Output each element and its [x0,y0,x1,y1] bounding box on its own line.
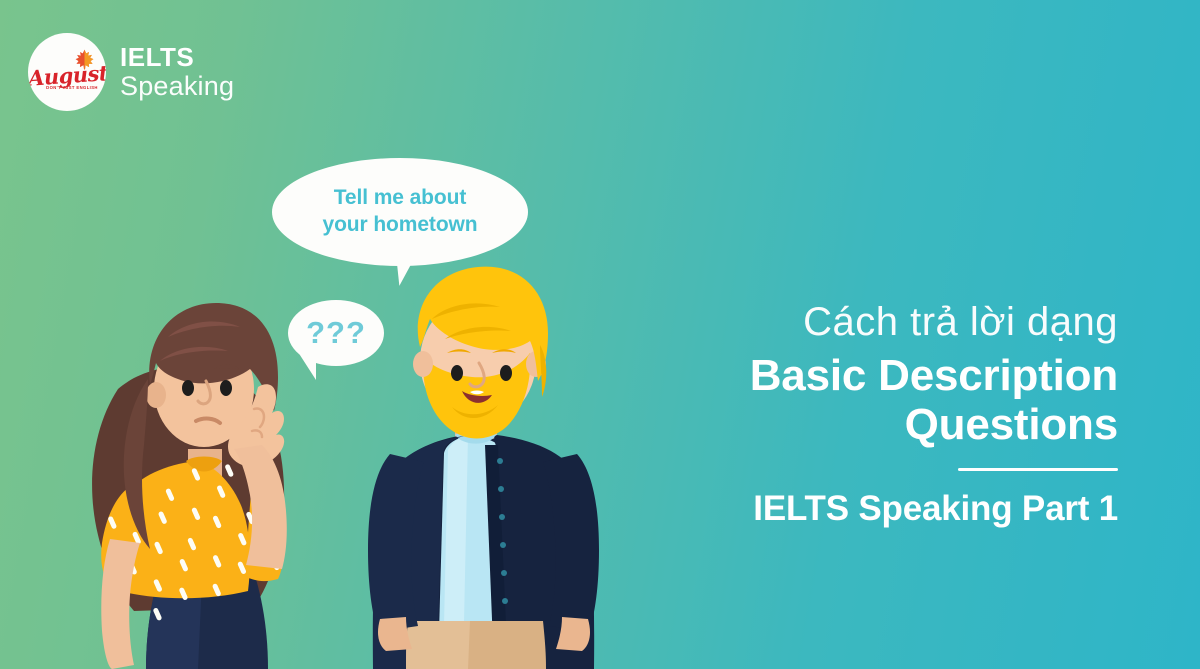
headline-divider [958,468,1118,471]
headline-subtitle: IELTS Speaking Part 1 [648,490,1118,529]
question-bubble-line2: your hometown [322,212,477,239]
brand-line-speaking: Speaking [120,73,234,100]
headline-block: Cách trả lời dạng Basic Description Ques… [648,300,1118,529]
august-logo-icon: August DON'T JUST ENGLISH [28,33,106,111]
headline-title-line1: Basic Description [648,351,1118,400]
headline-title: Basic Description Questions [648,351,1118,450]
thinking-speech-bubble: ??? [288,300,384,366]
thinking-bubble-text: ??? [288,300,384,366]
brand-title: IELTS Speaking [120,44,234,100]
august-tagline: DON'T JUST ENGLISH [33,85,106,90]
question-speech-bubble: Tell me about your hometown [272,158,528,266]
question-bubble-text: Tell me about your hometown [272,158,528,266]
headline-kicker: Cách trả lời dạng [648,300,1118,345]
brand-lockup: August DON'T JUST ENGLISH IELTS Speaking [28,33,234,111]
poster-canvas: August DON'T JUST ENGLISH IELTS Speaking [0,0,1200,669]
headline-title-line2: Questions [648,400,1118,449]
question-bubble-line1: Tell me about [334,185,467,212]
smiling-man-character [368,267,599,669]
confused-woman-character [92,303,291,669]
brand-line-ielts: IELTS [120,44,234,70]
